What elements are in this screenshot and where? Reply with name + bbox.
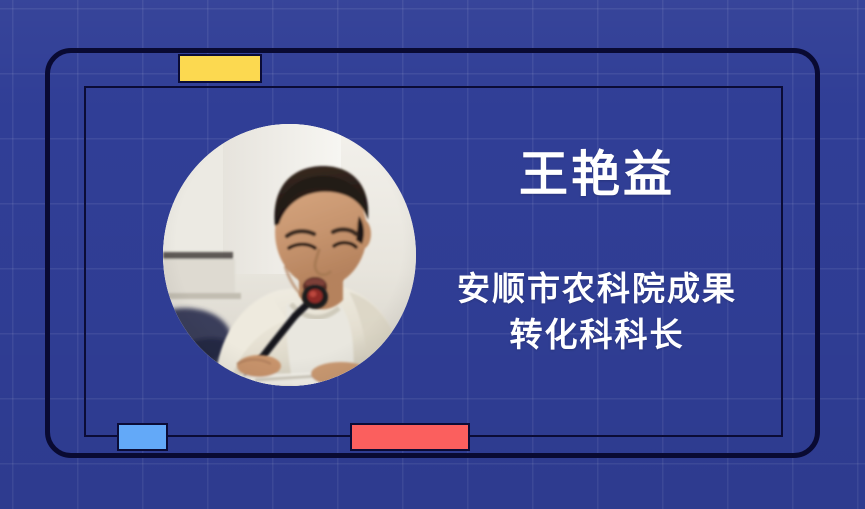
speaker-portrait-avatar [163,124,416,386]
portrait-photo [163,124,416,386]
yellow-accent-block [178,54,262,83]
speaker-text-block: 王艳益 安顺市农科院成果转化科科长 [432,150,762,358]
speaker-title: 安顺市农科院成果转化科科长 [432,266,762,358]
speaker-name: 王艳益 [432,150,762,202]
blue-accent-block [117,423,168,451]
name-card-overlay: 王艳益 安顺市农科院成果转化科科长 [0,0,865,509]
red-accent-block [350,423,470,451]
